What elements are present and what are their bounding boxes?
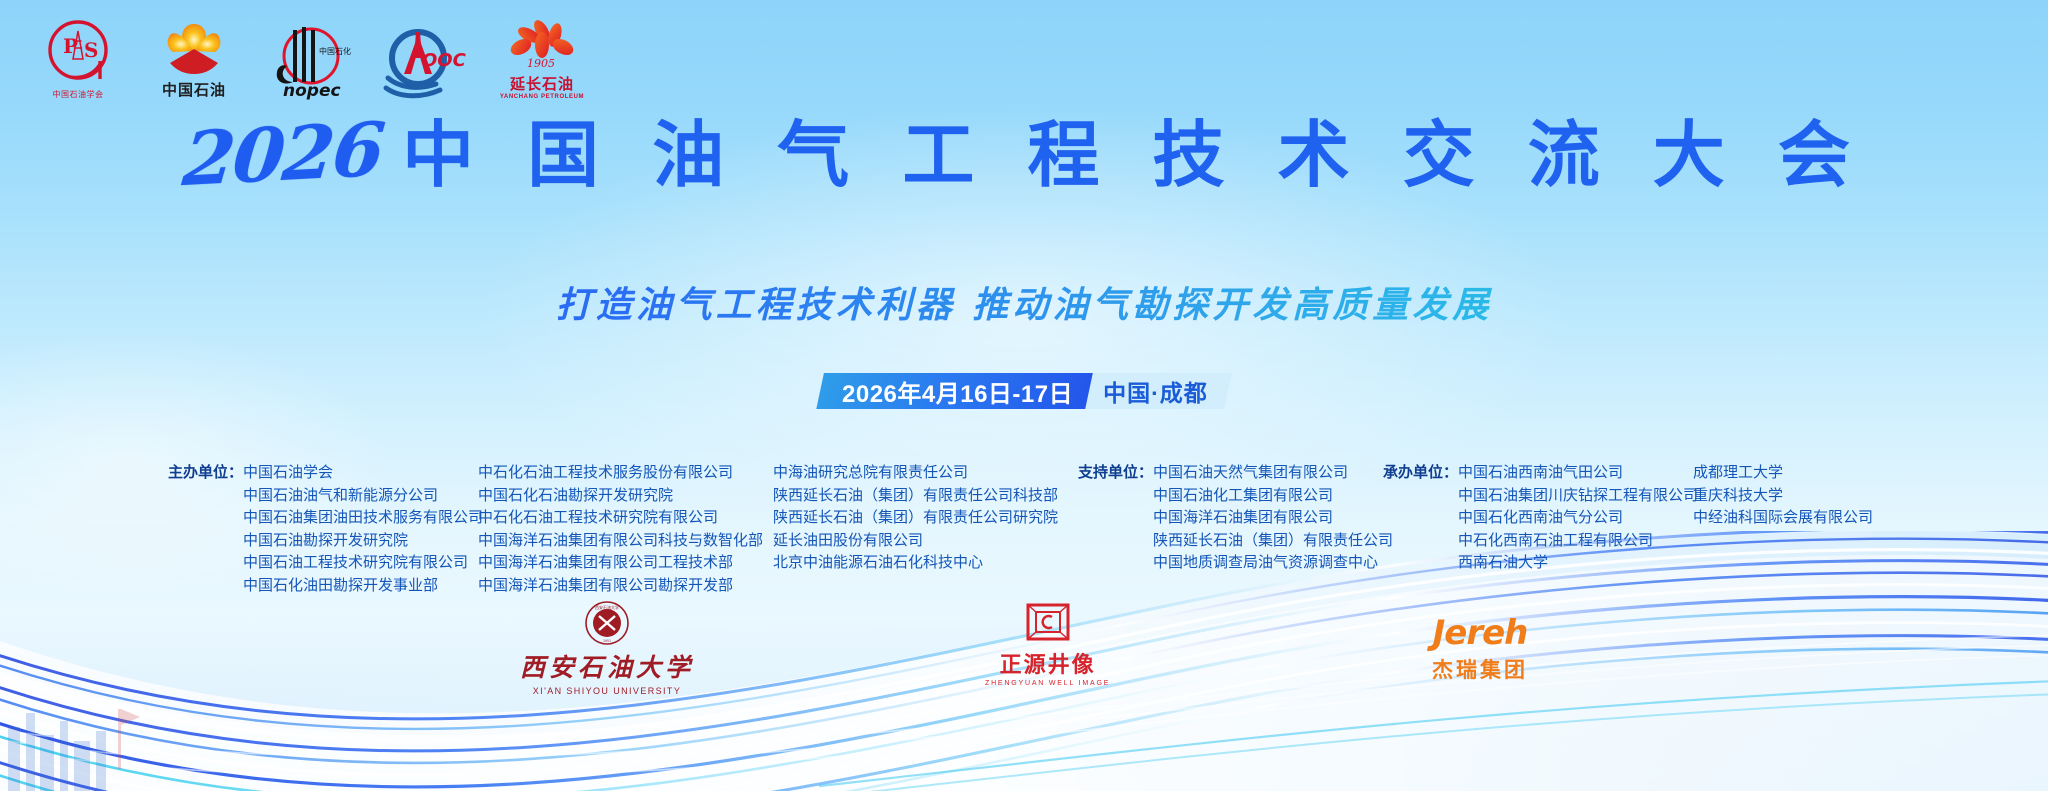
jereh-wordmark: Jereh xyxy=(1433,616,1528,650)
subtitle: 打造油气工程技术利器 推动油气勘探开发高质量发展 xyxy=(0,276,2048,328)
list-item: 中国石油工程技术研究院有限公司 xyxy=(243,552,483,575)
list-item: 中石化西南石油工程有限公司 xyxy=(1458,530,1698,553)
organizer-label-support: 支持单位： xyxy=(1078,462,1153,485)
cnpc-logo-mark xyxy=(161,19,227,77)
xian-shiyou-university-logo: 西安石油大学 1951 西安石油大学 XI'AN SHIYOU UNIVERSI… xyxy=(520,600,694,696)
event-date-text: 2026年4月16日-17日 xyxy=(842,374,1073,409)
event-city-text: 中国·成都 xyxy=(1103,374,1208,408)
cnpc-logo-caption: 中国石油 xyxy=(162,79,226,100)
zhengyuan-en: ZHENGYUAN WELL IMAGE xyxy=(985,680,1110,687)
yanchang-logo-caption: 延长石油 xyxy=(510,73,574,94)
list-item: 中国海洋石油集团有限公司勘探开发部 xyxy=(478,575,763,598)
cps-logo-mark: P S xyxy=(34,17,122,89)
list-item: 陕西延长石油（集团）有限责任公司科技部 xyxy=(773,485,1058,508)
list-item: 西南石油大学 xyxy=(1458,552,1698,575)
list-item: 陕西延长石油（集团）有限责任公司研究院 xyxy=(773,507,1058,530)
cnooc-wordmark: OOC xyxy=(422,50,467,71)
list-item: 重庆科技大学 xyxy=(1693,485,1873,508)
yanchang-logo-mark: 1905 xyxy=(499,19,585,71)
list-item: 中石化石油工程技术研究院有限公司 xyxy=(478,507,763,530)
organizer-column-undertaker: 承办单位： 中国石油西南油气田公司 中国石油集团川庆钻探工程有限公司 中国石化西… xyxy=(1383,462,1693,597)
list-item: 中国石油学会 xyxy=(243,462,483,485)
list-item: 中国石油西南油气田公司 xyxy=(1458,462,1698,485)
university-seal-icon: 西安石油大学 1951 xyxy=(584,600,630,646)
list-item: 中国海洋石油集团有限公司 xyxy=(1153,507,1393,530)
list-item: 中国石化石油勘探开发研究院 xyxy=(478,485,763,508)
organizer-column-support: 支持单位： 中国石油天然气集团有限公司 中国石油化工集团有限公司 中国海洋石油集… xyxy=(1078,462,1383,597)
xian-shiyou-en: XI'AN SHIYOU UNIVERSITY xyxy=(533,686,681,696)
year-logo: 2026 xyxy=(180,113,386,197)
zhengyuan-cn: 正源井像 xyxy=(1000,647,1096,679)
cps-logo-caption: 中国石油学会 xyxy=(53,89,104,100)
organizer-column-host-3: 中海油研究总院有限责任公司 陕西延长石油（集团）有限责任公司科技部 陕西延长石油… xyxy=(773,462,1078,597)
page-title: 中 国 油 气 工 程 技 术 交 流 大 会 xyxy=(402,118,1864,193)
cnooc-logo: OOC xyxy=(372,14,480,100)
zhengyuan-mark-icon xyxy=(1025,602,1071,644)
list-item: 中国地质调查局油气资源调查中心 xyxy=(1153,552,1393,575)
list-item: 中经油科国际会展有限公司 xyxy=(1693,507,1873,530)
organizer-column-host: 主办单位： 中国石油学会 中国石油油气和新能源分公司 中国石油集团油田技术服务有… xyxy=(168,462,478,597)
organizer-list-support: 中国石油天然气集团有限公司 中国石油化工集团有限公司 中国海洋石油集团有限公司 … xyxy=(1153,462,1393,575)
event-date: 2026年4月16日-17日 xyxy=(816,373,1093,409)
banner-canvas: P S 中国石油学会 xyxy=(0,0,2048,791)
organizer-column-undertaker-2: 成都理工大学 重庆科技大学 中经油科国际会展有限公司 xyxy=(1693,462,1913,597)
svg-text:1951: 1951 xyxy=(603,639,611,643)
organizer-list-host: 中国石油学会 中国石油油气和新能源分公司 中国石油集团油田技术服务有限公司 中国… xyxy=(243,462,483,597)
organizer-list-host-2: 中石化石油工程技术服务股份有限公司 中国石化石油勘探开发研究院 中石化石油工程技… xyxy=(478,462,763,597)
list-item: 成都理工大学 xyxy=(1693,462,1873,485)
svg-text:S: S xyxy=(84,38,98,62)
list-item: 中国石化油田勘探开发事业部 xyxy=(243,575,483,598)
svg-text:西安石油大学: 西安石油大学 xyxy=(595,604,619,610)
organizer-label-undertaker: 承办单位： xyxy=(1383,462,1458,485)
list-item: 中国石油勘探开发研究院 xyxy=(243,530,483,553)
list-item: 中国石油化工集团有限公司 xyxy=(1153,485,1393,508)
yanchang-year: 1905 xyxy=(527,57,555,70)
sinopec-wordmark: nopec xyxy=(283,81,341,100)
list-item: 中国海洋石油集团有限公司工程技术部 xyxy=(478,552,763,575)
svg-text:中国石化: 中国石化 xyxy=(319,46,351,56)
xian-shiyou-cn: 西安石油大学 xyxy=(520,648,694,684)
sinopec-logo: 中国石化 nopec xyxy=(256,14,364,100)
list-item: 陕西延长石油（集团）有限责任公司 xyxy=(1153,530,1393,553)
list-item: 中国石油天然气集团有限公司 xyxy=(1153,462,1393,485)
list-item: 中海油研究总院有限责任公司 xyxy=(773,462,1058,485)
yanchang-logo-en: YANCHANG PETROLEUM xyxy=(500,94,584,100)
list-item: 中国石油集团油田技术服务有限公司 xyxy=(243,507,483,530)
jereh-cn: 杰瑞集团 xyxy=(1432,654,1528,684)
top-logo-row: P S 中国石油学会 xyxy=(24,14,604,100)
organizer-list-undertaker-2: 成都理工大学 重庆科技大学 中经油科国际会展有限公司 xyxy=(1693,462,1873,530)
event-city: 中国·成都 xyxy=(1085,373,1231,409)
list-item: 中国石化西南油气分公司 xyxy=(1458,507,1698,530)
list-item: 北京中油能源石油石化科技中心 xyxy=(773,552,1058,575)
organizer-list-host-3: 中海油研究总院有限责任公司 陕西延长石油（集团）有限责任公司科技部 陕西延长石油… xyxy=(773,462,1058,575)
jereh-group-logo: Jereh 杰瑞集团 xyxy=(1432,616,1528,684)
yanchang-logo: 1905 延长石油 YANCHANG PETROLEUM xyxy=(488,14,596,100)
organizer-columns: 主办单位： 中国石油学会 中国石油油气和新能源分公司 中国石油集团油田技术服务有… xyxy=(0,462,2048,597)
date-location-bar: 2026年4月16日-17日 中国·成都 xyxy=(820,373,1228,409)
list-item: 延长油田股份有限公司 xyxy=(773,530,1058,553)
cps-logo: P S 中国石油学会 xyxy=(24,14,132,100)
organizer-label-host: 主办单位： xyxy=(168,462,243,485)
organizer-list-undertaker: 中国石油西南油气田公司 中国石油集团川庆钻探工程有限公司 中国石化西南油气分公司… xyxy=(1458,462,1698,575)
list-item: 中国石油集团川庆钻探工程有限公司 xyxy=(1458,485,1698,508)
cnooc-logo-mark: OOC xyxy=(378,28,474,100)
sponsor-logo-row: 西安石油大学 1951 西安石油大学 XI'AN SHIYOU UNIVERSI… xyxy=(0,600,2048,695)
main-title-row: 2026 中 国 油 气 工 程 技 术 交 流 大 会 xyxy=(0,118,2048,193)
list-item: 中石化石油工程技术服务股份有限公司 xyxy=(478,462,763,485)
list-item: 中国石油油气和新能源分公司 xyxy=(243,485,483,508)
organizer-column-host-2: 中石化石油工程技术服务股份有限公司 中国石化石油勘探开发研究院 中石化石油工程技… xyxy=(478,462,773,597)
zhengyuan-well-image-logo: 正源井像 ZHENGYUAN WELL IMAGE xyxy=(985,602,1110,687)
cnpc-logo: 中国石油 xyxy=(140,14,248,100)
sinopec-logo-mark: 中国石化 nopec xyxy=(263,24,357,100)
list-item: 中国海洋石油集团有限公司科技与数智化部 xyxy=(478,530,763,553)
